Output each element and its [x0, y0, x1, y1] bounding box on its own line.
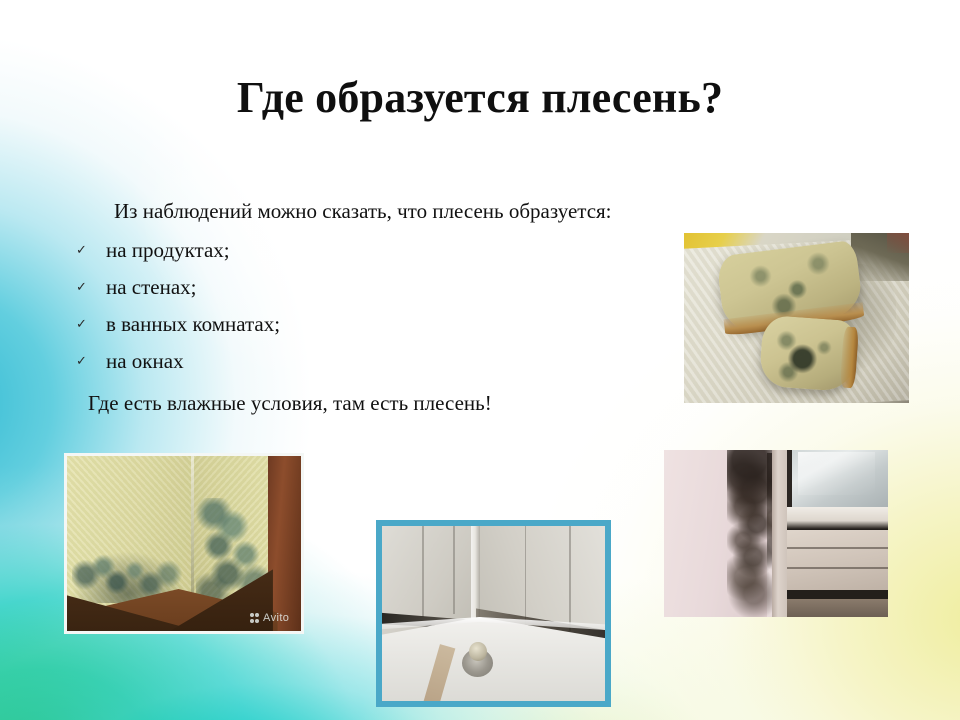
window-sill	[787, 507, 888, 530]
tile-grout-line	[525, 526, 527, 624]
avito-watermark-label: Avito	[263, 612, 289, 624]
avito-watermark: Avito	[250, 612, 290, 624]
photo-moldy-wall-corner: Avito	[64, 453, 304, 634]
slide-body: Из наблюдений можно сказать, что плесень…	[64, 196, 694, 418]
tile-grout-line	[422, 526, 424, 617]
checkmark-icon: ✓	[76, 269, 87, 306]
tile-grout-line	[569, 526, 571, 631]
presentation-slide: Где образуется плесень? Из наблюдений мо…	[0, 0, 960, 720]
list-item: ✓ на продуктах;	[64, 232, 694, 269]
tile-grout-line	[453, 526, 455, 614]
bathtub-drain-cap	[469, 642, 487, 661]
window-frame-vertical	[772, 450, 788, 617]
avito-dots-icon	[250, 613, 260, 623]
bread-slice-small	[758, 315, 857, 393]
bullet-list: ✓ на продуктах; ✓ на стенах; ✓ в ванных …	[64, 232, 694, 380]
window-wall-mold-spots	[727, 450, 772, 617]
bread-red-corner	[887, 233, 910, 253]
intro-paragraph: Из наблюдений можно сказать, что плесень…	[64, 196, 694, 226]
list-item-label: в ванных комнатах;	[106, 312, 280, 336]
photo-moldy-bread	[684, 233, 909, 403]
list-item: ✓ на стенах;	[64, 269, 694, 306]
bathroom-corner-strip	[471, 526, 480, 621]
window-lower-panel	[787, 530, 888, 590]
list-item: ✓ в ванных комнатах;	[64, 306, 694, 343]
checkmark-icon: ✓	[76, 306, 87, 343]
list-item: ✓ на окнах	[64, 343, 694, 380]
photo-window-mold	[664, 450, 888, 617]
closing-statement: Где есть влажные условия, там есть плесе…	[64, 388, 694, 418]
window-panel-line	[787, 567, 888, 569]
window-panel-line	[787, 547, 888, 549]
list-item-label: на продуктах;	[106, 238, 230, 262]
wall-door-frame	[268, 456, 301, 631]
photo-bathroom-mold	[376, 520, 611, 707]
checkmark-icon: ✓	[76, 343, 87, 380]
window-bottom-opening	[787, 599, 888, 617]
list-item-label: на стенах;	[106, 275, 197, 299]
slide-content: Где образуется плесень? Из наблюдений мо…	[0, 0, 960, 720]
list-item-label: на окнах	[106, 349, 184, 373]
window-glass-reflection	[798, 452, 874, 495]
window-bottom-dark-edge	[787, 590, 888, 598]
checkmark-icon: ✓	[76, 232, 87, 269]
wall-corner-seam	[191, 456, 194, 593]
slide-title: Где образуется плесень?	[0, 71, 960, 125]
